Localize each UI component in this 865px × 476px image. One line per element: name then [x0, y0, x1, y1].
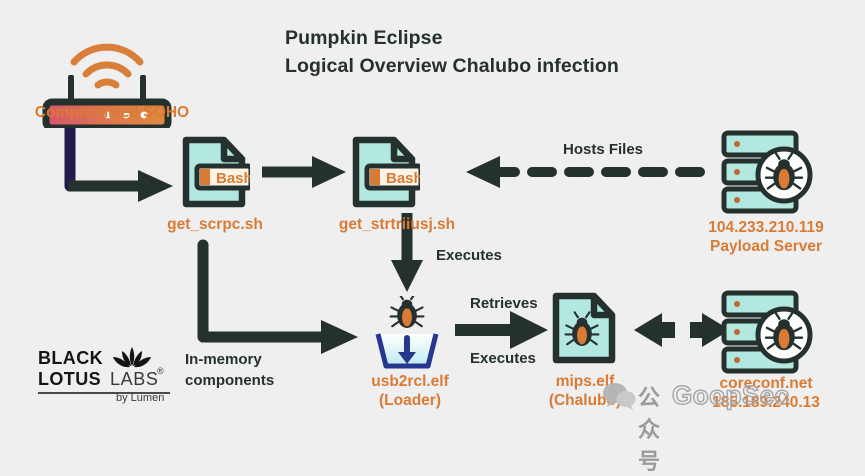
connector-retrieves-executes [455, 311, 548, 349]
connector-router-to-file1 [68, 127, 173, 202]
executes-mips-label: Executes [470, 349, 536, 368]
file1-label: get_scrpc.sh [150, 215, 280, 234]
diagram-canvas: Pumpkin Eclipse Logical Overview Chalubo… [0, 0, 865, 425]
infected-file-icon-mips [548, 290, 620, 366]
logo-registered-mark: ® [157, 366, 164, 376]
loader-name: usb2rcl.elf [340, 372, 480, 391]
connector-in-memory [201, 245, 358, 354]
watermark-brand-text: GoopSec [672, 380, 790, 411]
loader-role: (Loader) [340, 391, 480, 410]
in-memory-line-1: In-memory [185, 349, 345, 370]
connector-file1-to-file2 [262, 156, 346, 188]
payload-server-ip: 104.233.210.119 [666, 218, 865, 237]
file2-label: get_strtriiusj.sh [312, 215, 482, 234]
hosts-files-label: Hosts Files [518, 140, 688, 159]
logo-line-1: BLACK [38, 348, 103, 369]
bash-script-file-icon-2: Bash [348, 134, 420, 210]
payload-server-label: 104.233.210.119 Payload Server [666, 218, 865, 256]
connector-hosts-files [466, 156, 700, 188]
logo-labs-text: LABS [110, 369, 158, 390]
retrieves-label: Retrieves [470, 294, 538, 313]
svg-text:Bash: Bash [216, 170, 250, 187]
logo-byline: by Lumen [116, 392, 164, 404]
svg-text:Bash: Bash [386, 170, 420, 187]
bash-script-file-icon-1: Bash [178, 134, 250, 210]
watermark-chinese-text: 公众号 [638, 380, 660, 476]
wechat-icon [602, 380, 636, 410]
connector-mips-c2 [634, 313, 730, 347]
infected-server-icon-payload [718, 128, 816, 218]
in-memory-components-label: In-memory components [185, 349, 345, 391]
executes-loader-label: Executes [436, 246, 502, 265]
in-memory-line-2: components [185, 370, 345, 391]
router-label: Compromised SOHO [22, 103, 202, 122]
loader-bucket-bug-icon [368, 296, 446, 374]
black-lotus-labs-logo: BLACK LOTUS LABS ® by Lumen [38, 348, 208, 410]
infected-server-icon-c2 [718, 288, 816, 378]
logo-line-2: LOTUS [38, 369, 101, 390]
lotus-flower-icon [110, 346, 154, 370]
payload-server-role: Payload Server [666, 237, 865, 256]
loader-label: usb2rcl.elf (Loader) [340, 372, 480, 410]
